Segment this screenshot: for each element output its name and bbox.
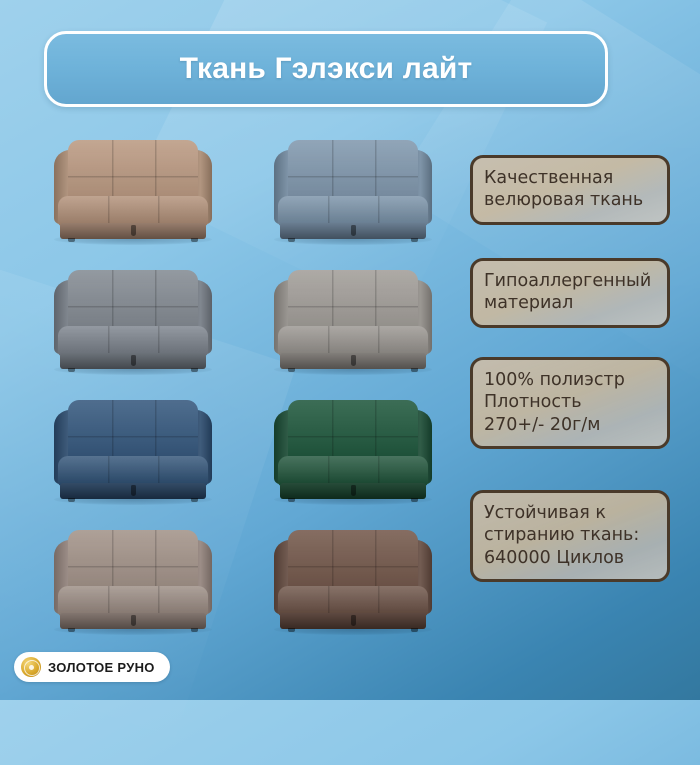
- sofa-foot-left: [68, 498, 75, 502]
- title-banner: Ткань Гэлэкси лайт: [44, 31, 608, 107]
- sofa-seat-cushion: [278, 326, 428, 356]
- product-sofa-beige[interactable]: [48, 138, 218, 248]
- sofa-illustration: [268, 138, 438, 242]
- sofa-illustration: [268, 268, 438, 372]
- feature-composition: 100% полиэстрПлотность270+/- 20г/м: [470, 357, 670, 449]
- sofa-pull-handle: [131, 355, 136, 366]
- sofa-seat-cushion: [58, 326, 208, 356]
- brand-name: ЗОЛОТОЕ РУНО: [48, 660, 155, 675]
- feature-text-line: Качественная: [484, 167, 656, 189]
- product-sofa-brown[interactable]: [268, 528, 438, 638]
- feature-text-line: Гипоаллергенный: [484, 270, 656, 292]
- sofa-foot-right: [411, 238, 418, 242]
- sofa-foot-right: [191, 368, 198, 372]
- sofa-illustration: [48, 138, 218, 242]
- sofa-pull-handle: [351, 225, 356, 236]
- sofa-seat-cushion: [58, 456, 208, 486]
- sofa-backrest: [288, 140, 418, 202]
- sofa-backrest: [288, 530, 418, 592]
- product-sofa-dark-gray[interactable]: [48, 268, 218, 378]
- feature-hypoallergenic: Гипоаллергенныйматериал: [470, 258, 670, 328]
- sofa-backrest: [68, 400, 198, 462]
- sofa-pull-handle: [131, 485, 136, 496]
- feature-text-line: 100% полиэстр: [484, 369, 656, 391]
- sofa-foot-left: [68, 238, 75, 242]
- sofa-illustration: [48, 398, 218, 502]
- feature-text-line: 270+/- 20г/м: [484, 414, 656, 436]
- sofa-pull-handle: [131, 225, 136, 236]
- product-sofa-steel-blue[interactable]: [268, 138, 438, 248]
- sofa-foot-left: [68, 628, 75, 632]
- sofa-backrest: [68, 140, 198, 202]
- feature-text-line: материал: [484, 292, 656, 314]
- page-title: Ткань Гэлэкси лайт: [180, 52, 473, 86]
- sofa-illustration: [268, 528, 438, 632]
- sofa-foot-left: [288, 238, 295, 242]
- product-sofa-navy[interactable]: [48, 398, 218, 508]
- sofa-foot-right: [191, 628, 198, 632]
- sofa-seat-cushion: [278, 586, 428, 616]
- brand-logo-badge: ЗОЛОТОЕ РУНО: [14, 652, 170, 682]
- sofa-foot-left: [68, 368, 75, 372]
- feature-text-line: стиранию ткань:: [484, 524, 656, 546]
- feature-text-line: Плотность: [484, 391, 656, 413]
- sofa-backrest: [68, 270, 198, 332]
- sofa-foot-left: [288, 368, 295, 372]
- sofa-pull-handle: [351, 615, 356, 626]
- feature-text-line: 640000 Циклов: [484, 547, 656, 569]
- sofa-backrest: [288, 400, 418, 462]
- feature-text-line: Устойчивая к: [484, 502, 656, 524]
- sofa-foot-left: [288, 498, 295, 502]
- product-sofa-green[interactable]: [268, 398, 438, 508]
- sofa-illustration: [48, 528, 218, 632]
- sofa-foot-right: [411, 628, 418, 632]
- sofa-seat-cushion: [58, 586, 208, 616]
- sofa-backrest: [288, 270, 418, 332]
- sofa-foot-right: [191, 238, 198, 242]
- product-sofa-taupe[interactable]: [48, 528, 218, 638]
- sofa-foot-right: [411, 498, 418, 502]
- sofa-seat-cushion: [278, 456, 428, 486]
- sofa-pull-handle: [351, 355, 356, 366]
- sofa-illustration: [48, 268, 218, 372]
- feature-durability: Устойчивая кстиранию ткань:640000 Циклов: [470, 490, 670, 582]
- sofa-foot-right: [411, 368, 418, 372]
- product-sofa-light-gray[interactable]: [268, 268, 438, 378]
- feature-text-line: велюровая ткань: [484, 189, 656, 211]
- feature-quality: Качественнаявелюровая ткань: [470, 155, 670, 225]
- sofa-pull-handle: [131, 615, 136, 626]
- sofa-seat-cushion: [58, 196, 208, 226]
- rosette-emblem-icon: [21, 657, 41, 677]
- sofa-illustration: [268, 398, 438, 502]
- sofa-seat-cushion: [278, 196, 428, 226]
- sofa-foot-left: [288, 628, 295, 632]
- sofa-foot-right: [191, 498, 198, 502]
- sofa-backrest: [68, 530, 198, 592]
- sofa-pull-handle: [351, 485, 356, 496]
